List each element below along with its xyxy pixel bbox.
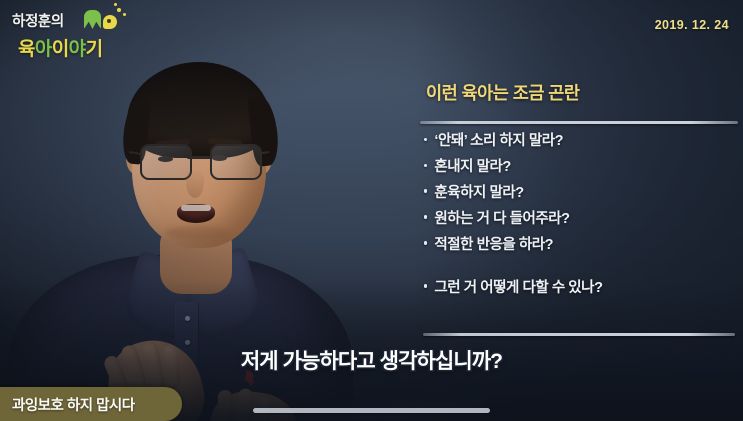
bullet-dot-icon <box>424 189 427 192</box>
list-item: 원하는 거 다 들어주라? <box>424 212 738 228</box>
sparkle-dot <box>114 3 117 6</box>
channel-logo: 하정훈의 육아이야기 <box>12 10 142 66</box>
list-item-closing: 그런 거 어떻게 다할 수 있나? <box>424 281 738 297</box>
list-item-label: 원하는 거 다 들어주라? <box>434 212 569 228</box>
list-item-label: 훈육하지 말라? <box>434 186 523 202</box>
date-stamp: 2019. 12. 24 <box>655 18 729 32</box>
bullet-dot-icon <box>424 215 427 218</box>
slide-divider-top <box>420 121 738 124</box>
logo-char-4: 기 <box>86 39 103 60</box>
list-item-label: 적절한 반응을 하라? <box>434 238 553 254</box>
list-item: 적절한 반응을 하라? <box>424 238 738 254</box>
bullet-dot-icon <box>424 164 427 167</box>
slide-divider-bottom <box>423 333 735 336</box>
list-item: 훈육하지 말라? <box>424 186 738 202</box>
list-item-label: 그런 거 어떻게 다할 수 있나? <box>434 281 602 297</box>
subtitle-caption: 저게 가능하다고 생각하십니까? <box>0 345 743 375</box>
slide-title: 이런 육아는 조금 곤란 <box>426 80 580 105</box>
bullet-dot-icon <box>424 138 427 141</box>
leaf-shape <box>84 10 101 29</box>
bug-eye <box>107 19 111 23</box>
logo-char-2: 이 <box>52 39 69 60</box>
channel-logo-line1: 하정훈의 <box>12 10 64 31</box>
list-item-label: ‘안돼’ 소리 하지 말라? <box>434 134 563 150</box>
list-item: 혼내지 말라? <box>424 160 738 176</box>
list-item-label: 혼내지 말라? <box>434 160 510 176</box>
lower-third-banner: 과잉보호 하지 맙시다 <box>0 387 182 421</box>
leaf-bug-mark-icon <box>84 8 128 32</box>
sparkle-dot <box>117 8 121 12</box>
logo-char-1: 아 <box>35 39 52 60</box>
list-item: ‘안돼’ 소리 하지 말라? <box>424 134 738 150</box>
video-frame: 하정훈의 육아이야기 2019. 12. 24 이런 육아는 조금 곤란 ‘안돼… <box>0 0 743 421</box>
channel-logo-line2: 육아이야기 <box>18 34 102 61</box>
slide-panel: 이런 육아는 조금 곤란 ‘안돼’ 소리 하지 말라? 혼내지 말라? 훈육하지… <box>418 76 738 342</box>
sparkle-dot <box>123 13 126 16</box>
bullet-dot-icon <box>424 284 427 287</box>
lower-third-banner-label: 과잉보호 하지 맙시다 <box>12 394 135 415</box>
logo-char-0: 육 <box>18 39 35 60</box>
slide-bullet-list: ‘안돼’ 소리 하지 말라? 혼내지 말라? 훈육하지 말라? 원하는 거 다 … <box>424 134 738 307</box>
video-progress-bar[interactable] <box>253 408 490 413</box>
bullet-dot-icon <box>424 241 427 244</box>
logo-char-3: 야 <box>69 39 86 60</box>
